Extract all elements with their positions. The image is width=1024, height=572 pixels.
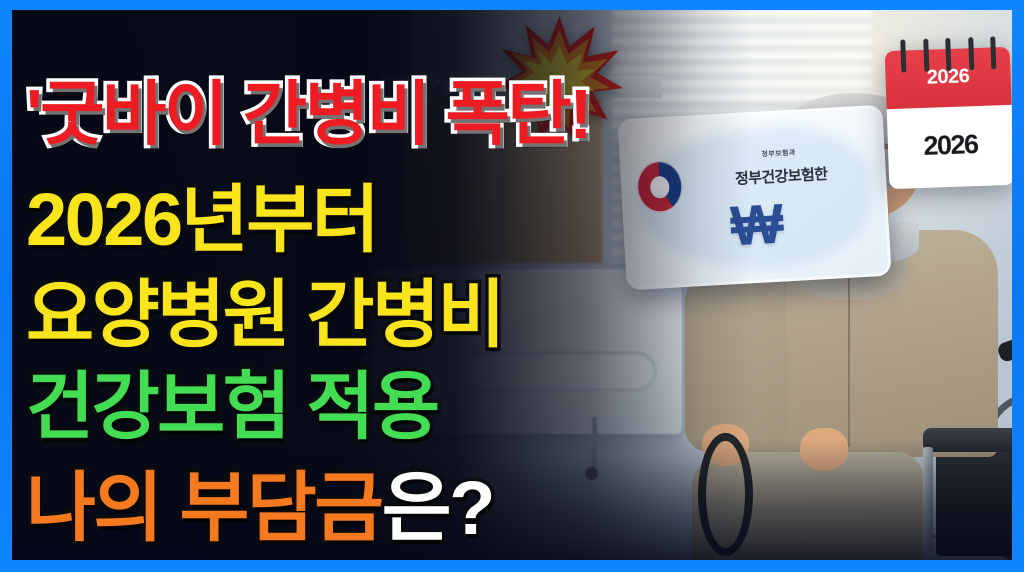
thumbnail-stage: 정부보험과 정부건강보험한 ₩ 2026 2026 <box>12 10 1012 560</box>
wheelchair-handle <box>996 332 1012 364</box>
thumbnail-canvas: 정부보험과 정부건강보험한 ₩ 2026 2026 <box>0 0 1024 572</box>
calendar-2026-icon: 2026 2026 <box>885 46 1012 188</box>
bottom-gradient-scrim <box>12 439 1012 560</box>
calendar-body-year: 2026 <box>887 101 1012 188</box>
